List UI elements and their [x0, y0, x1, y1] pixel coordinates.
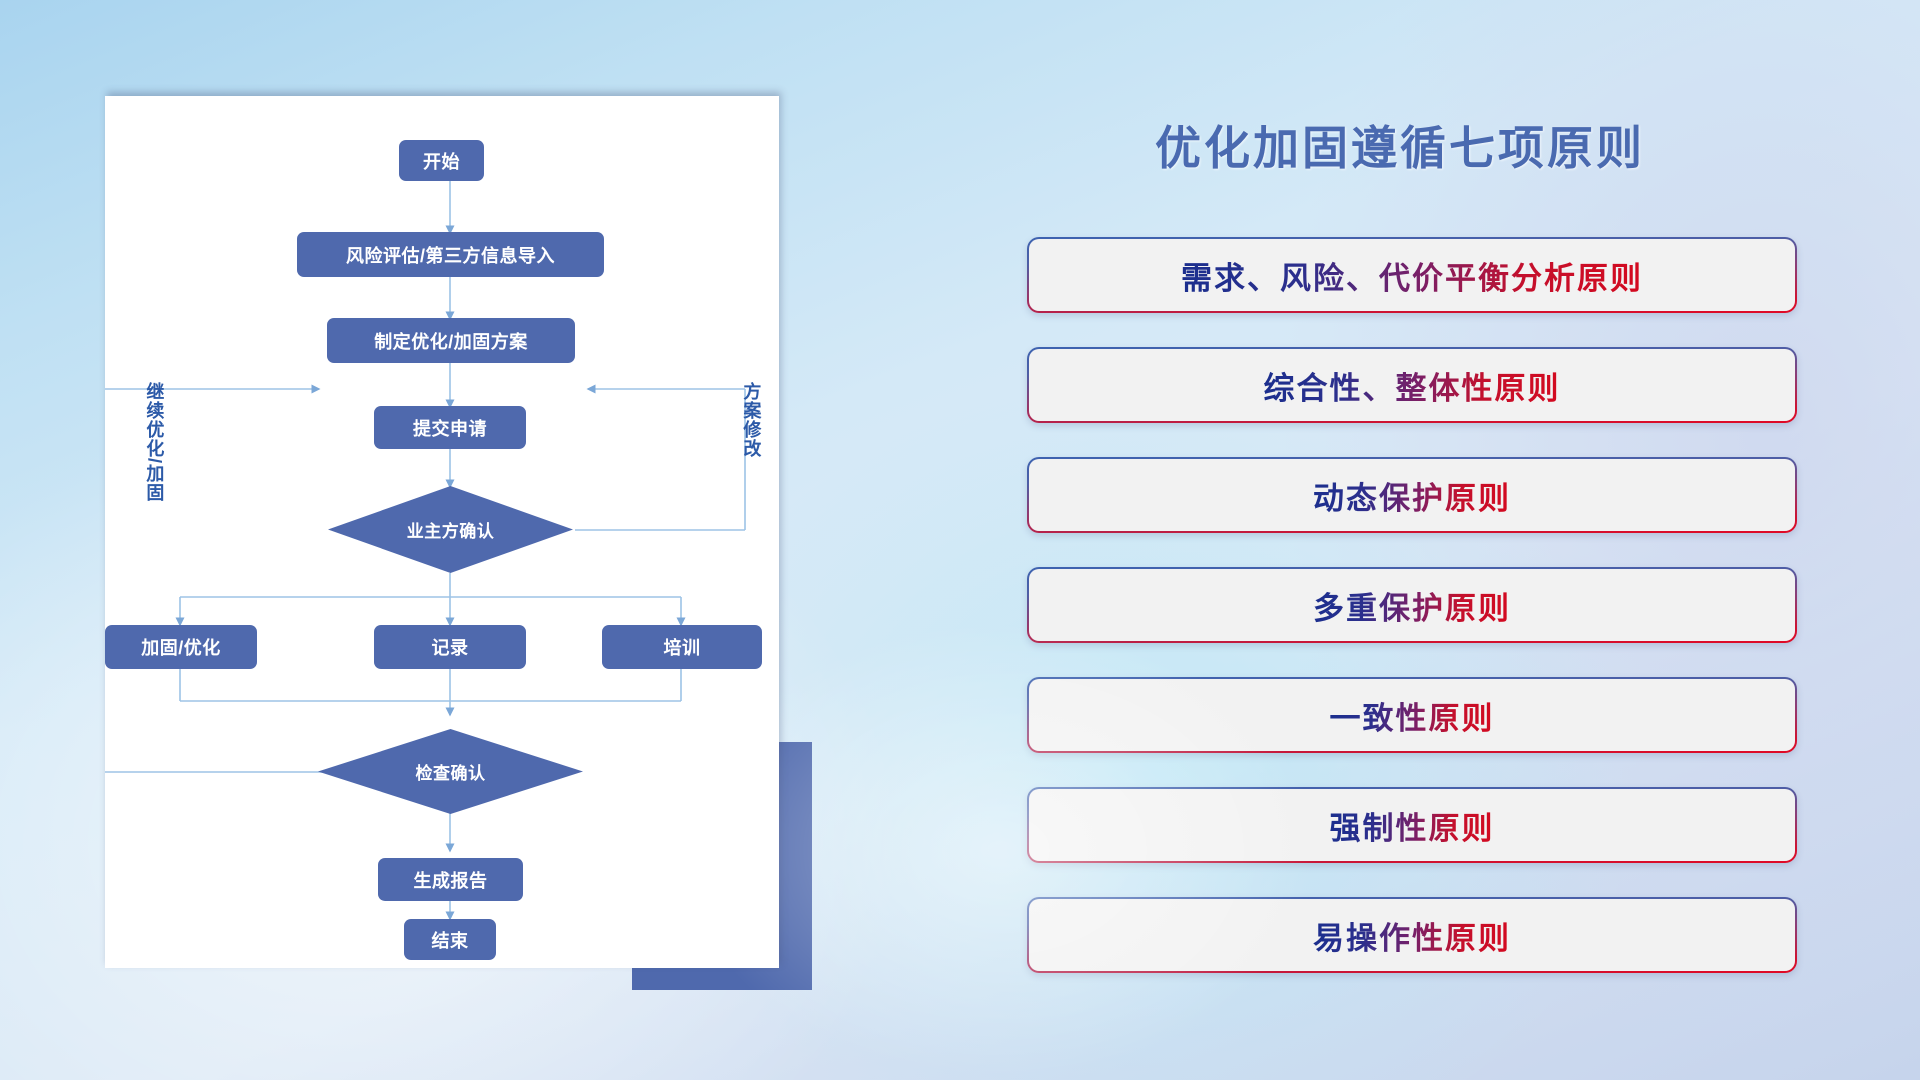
- flow-node-label: 结束: [432, 927, 469, 953]
- flow-node-label: 检查确认: [416, 759, 486, 784]
- flow-node-label: 制定优化/加固方案: [374, 328, 528, 354]
- principle-card-inner: 综合性、整体性原则: [1029, 349, 1795, 421]
- flow-node-label: 生成报告: [414, 867, 488, 893]
- principle-card-inner: 一致性原则: [1029, 679, 1795, 751]
- flow-node-training[interactable]: 培训: [602, 625, 762, 669]
- slide-root: 开始 风险评估/第三方信息导入 制定优化/加固方案 提交申请 业主方确认 加固/…: [0, 0, 1920, 1080]
- principle-label: 动态保护原则: [1313, 473, 1511, 518]
- flow-node-label: 培训: [664, 634, 701, 660]
- flow-node-label: 开始: [423, 148, 460, 174]
- flowchart-canvas: 开始 风险评估/第三方信息导入 制定优化/加固方案 提交申请 业主方确认 加固/…: [105, 96, 779, 968]
- flowchart-card: 开始 风险评估/第三方信息导入 制定优化/加固方案 提交申请 业主方确认 加固/…: [105, 96, 779, 968]
- flow-node-plan[interactable]: 制定优化/加固方案: [327, 318, 575, 363]
- panel-title: 优化加固遵循七项原则: [1155, 112, 1645, 178]
- flow-node-risk-assessment[interactable]: 风险评估/第三方信息导入: [297, 232, 604, 277]
- flow-node-label: 记录: [432, 634, 469, 660]
- principle-label: 综合性、整体性原则: [1264, 363, 1561, 408]
- principle-label: 需求、风险、代价平衡分析原则: [1181, 253, 1643, 298]
- principle-card-inner: 需求、风险、代价平衡分析原则: [1029, 239, 1795, 311]
- principle-card-inner: 多重保护原则: [1029, 569, 1795, 641]
- principle-card[interactable]: 动态保护原则: [1027, 457, 1797, 533]
- principle-label: 强制性原则: [1330, 803, 1495, 848]
- principle-label: 多重保护原则: [1313, 583, 1511, 628]
- principle-label: 易操作性原则: [1313, 913, 1511, 958]
- flow-node-label: 业主方确认: [407, 517, 495, 542]
- principle-card[interactable]: 一致性原则: [1027, 677, 1797, 753]
- principles-list: 需求、风险、代价平衡分析原则 综合性、整体性原则 动态保护原则 多重保护原则 一…: [1027, 237, 1797, 1007]
- principle-card[interactable]: 综合性、整体性原则: [1027, 347, 1797, 423]
- flow-node-submit-application[interactable]: 提交申请: [374, 406, 526, 449]
- principle-card[interactable]: 需求、风险、代价平衡分析原则: [1027, 237, 1797, 313]
- principle-card-inner: 动态保护原则: [1029, 459, 1795, 531]
- principle-card-inner: 易操作性原则: [1029, 899, 1795, 971]
- flow-node-label: 加固/优化: [141, 634, 221, 660]
- flow-node-label: 提交申请: [413, 415, 487, 441]
- principle-card[interactable]: 多重保护原则: [1027, 567, 1797, 643]
- principle-card[interactable]: 易操作性原则: [1027, 897, 1797, 973]
- flow-node-reinforce-optimize[interactable]: 加固/优化: [105, 625, 257, 669]
- flow-edge-label-continue-optimize: 继续优化/加固: [145, 382, 163, 502]
- flow-node-end[interactable]: 结束: [404, 919, 496, 960]
- flow-node-start[interactable]: 开始: [399, 140, 484, 181]
- flow-edge-label-plan-revision: 方案修改: [742, 382, 760, 458]
- principle-card-inner: 强制性原则: [1029, 789, 1795, 861]
- flow-node-generate-report[interactable]: 生成报告: [378, 858, 523, 901]
- flow-node-record[interactable]: 记录: [374, 625, 526, 669]
- principle-card[interactable]: 强制性原则: [1027, 787, 1797, 863]
- principle-label: 一致性原则: [1330, 693, 1495, 738]
- flow-node-label: 风险评估/第三方信息导入: [346, 242, 555, 268]
